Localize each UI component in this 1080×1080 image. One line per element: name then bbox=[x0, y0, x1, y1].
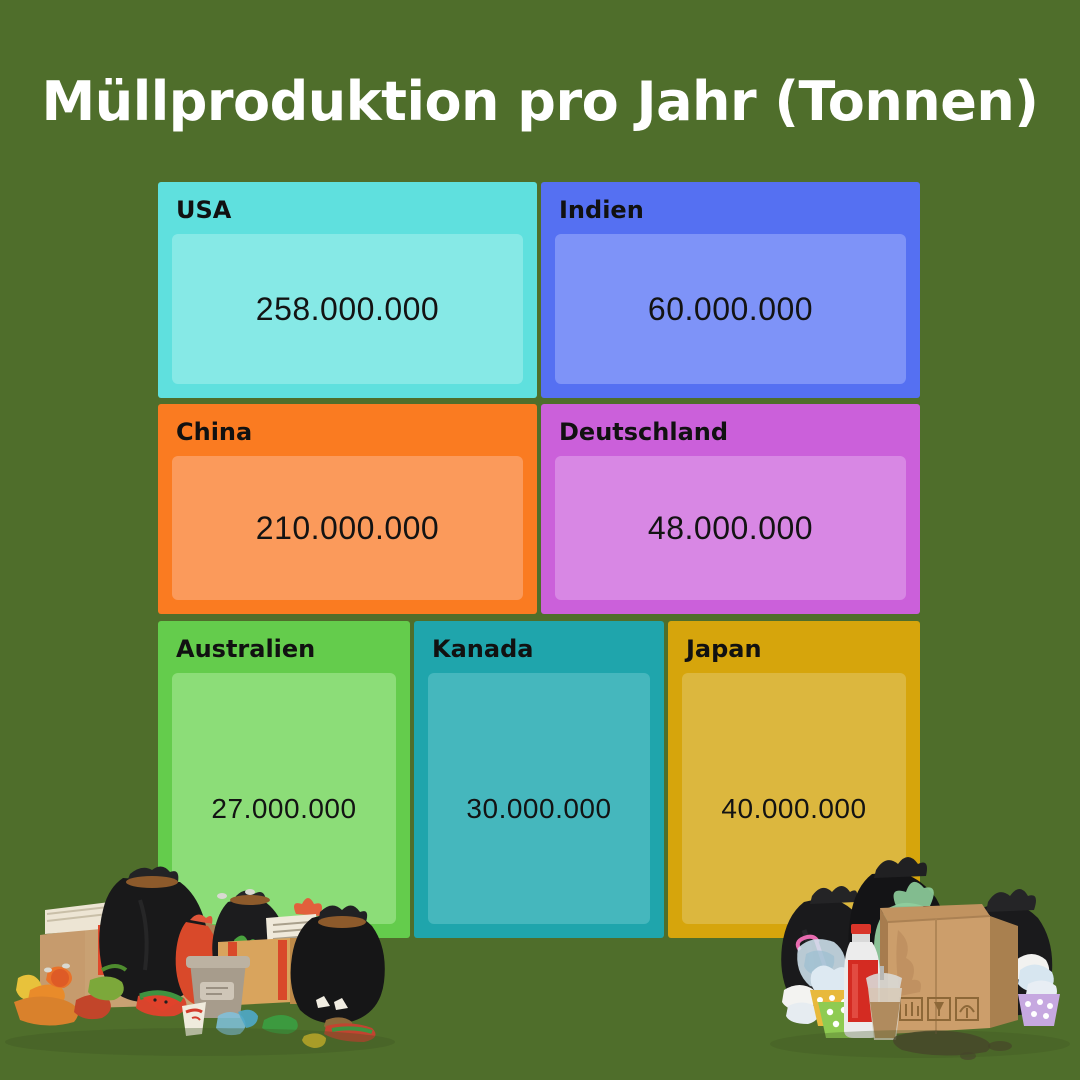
tile-value-japan: 40.000.000 bbox=[721, 793, 866, 825]
country-tile-grid: USA 258.000.000 Indien 60.000.000 China … bbox=[158, 182, 920, 938]
tile-value-kanada: 30.000.000 bbox=[466, 793, 611, 825]
tile-label-kanada: Kanada bbox=[432, 635, 533, 663]
tile-value-indien: 60.000.000 bbox=[648, 291, 813, 328]
infographic-canvas: Müllproduktion pro Jahr (Tonnen) USA 258… bbox=[0, 0, 1080, 1080]
tile-inner-indien: 60.000.000 bbox=[555, 234, 906, 384]
tile-label-indien: Indien bbox=[559, 196, 644, 224]
tile-label-china: China bbox=[176, 418, 252, 446]
tile-deutschland[interactable]: Deutschland 48.000.000 bbox=[541, 404, 920, 614]
tile-value-deutschland: 48.000.000 bbox=[648, 510, 813, 547]
tile-china[interactable]: China 210.000.000 bbox=[158, 404, 537, 614]
garbage-bags-box-illustration bbox=[760, 830, 1080, 1080]
tile-value-china: 210.000.000 bbox=[256, 510, 439, 547]
tile-label-australien: Australien bbox=[176, 635, 315, 663]
tile-inner-deutschland: 48.000.000 bbox=[555, 456, 906, 600]
tile-inner-usa: 258.000.000 bbox=[172, 234, 523, 384]
tile-label-deutschland: Deutschland bbox=[559, 418, 728, 446]
tile-label-japan: Japan bbox=[686, 635, 762, 663]
tile-inner-china: 210.000.000 bbox=[172, 456, 523, 600]
garbage-pile-illustration bbox=[0, 830, 410, 1080]
page-title: Müllproduktion pro Jahr (Tonnen) bbox=[0, 72, 1080, 131]
tile-value-australien: 27.000.000 bbox=[211, 793, 356, 825]
tile-label-usa: USA bbox=[176, 196, 231, 224]
tile-inner-kanada: 30.000.000 bbox=[428, 673, 650, 924]
tile-indien[interactable]: Indien 60.000.000 bbox=[541, 182, 920, 398]
tile-usa[interactable]: USA 258.000.000 bbox=[158, 182, 537, 398]
tile-kanada[interactable]: Kanada 30.000.000 bbox=[414, 621, 664, 938]
tile-value-usa: 258.000.000 bbox=[256, 291, 439, 328]
